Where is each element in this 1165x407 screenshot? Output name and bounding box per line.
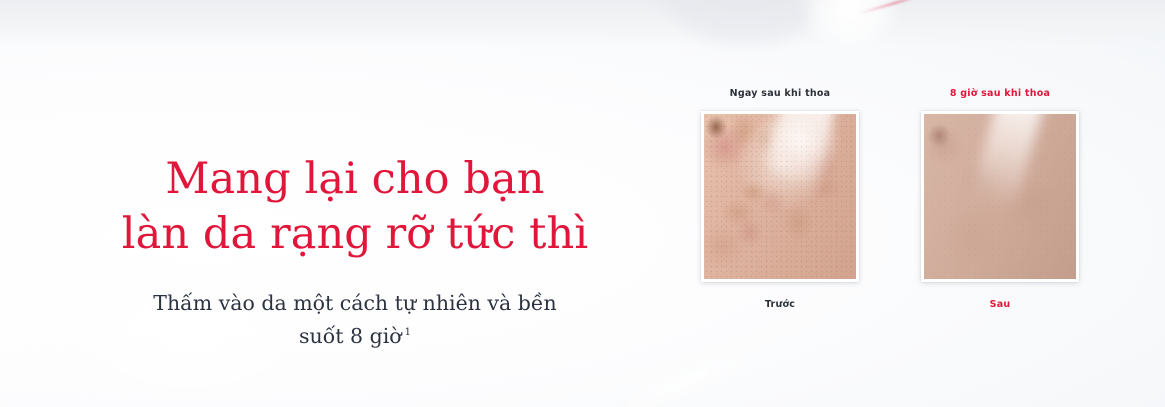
comparison-caption-before: Trước [765,299,795,310]
comparison-top-label-before: Ngay sau khi thoa [730,88,831,99]
headline-line-1: Mang lại cho bạn [60,152,650,207]
comparison-top-label-after: 8 giờ sau khi thoa [950,88,1050,99]
background-blurred-object [648,0,844,44]
page-title: Mang lại cho bạn làn da rạng rỡ tức thì [60,152,650,261]
promo-copy: Mang lại cho bạn làn da rạng rỡ tức thì … [60,152,650,352]
promo-banner: Mang lại cho bạn làn da rạng rỡ tức thì … [0,0,1165,407]
footnote-marker: 1 [405,327,411,338]
subtitle-line-2: suốt 8 giờ1 [60,320,650,352]
comparison-item-after: 8 giờ sau khi thoa Sau [910,88,1090,310]
before-after-comparison: Ngay sau khi thoa Trước 8 giờ sau khi th… [690,88,1090,310]
background-pink-streak [859,0,931,14]
skin-photo-before [704,114,856,279]
subtitle-line-1: Thấm vào da một cách tự nhiên và bền [60,287,650,319]
background-blurred-object-shadow [664,0,828,14]
subtitle-line-2-text: suốt 8 giờ [299,324,402,348]
skin-photo-after [924,114,1076,279]
background-highlight-glow [790,0,910,46]
photo-frame-after [921,111,1079,282]
comparison-caption-after: Sau [990,299,1011,310]
background-top-band [0,0,1165,46]
headline-line-2: làn da rạng rỡ tức thì [60,207,650,262]
photo-frame-before [701,111,859,282]
comparison-item-before: Ngay sau khi thoa Trước [690,88,870,310]
promo-subtitle: Thấm vào da một cách tự nhiên và bền suố… [60,287,650,352]
